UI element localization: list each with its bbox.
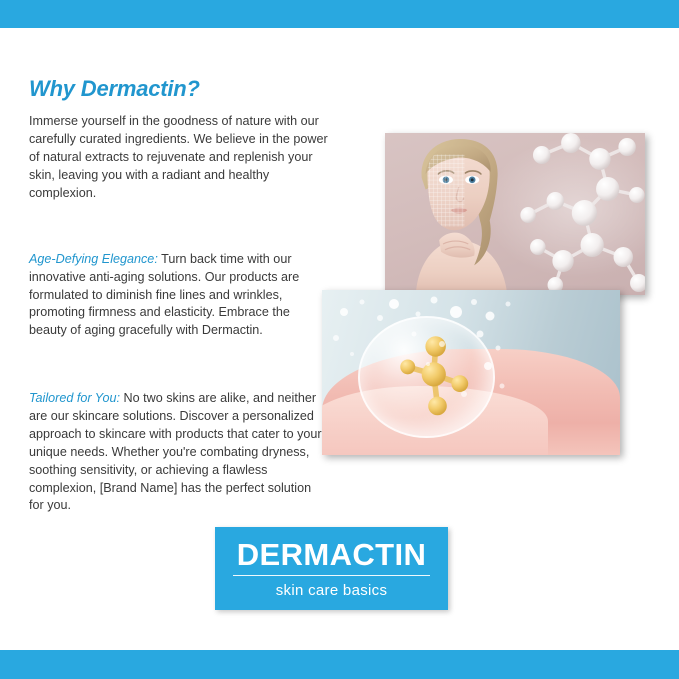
age-defying-lead-in: Age-Defying Elegance: <box>29 252 158 266</box>
water-bubbles-illustration <box>322 290 620 455</box>
model-face-molecules-photo <box>385 133 645 295</box>
top-brand-bar <box>0 0 679 28</box>
bottom-brand-bar <box>0 650 679 679</box>
brand-logo: DERMACTIN skin care basics <box>215 527 448 610</box>
tailored-body: No two skins are alike, and neither are … <box>29 391 322 512</box>
tailored-lead-in: Tailored for You: <box>29 391 120 405</box>
age-defying-paragraph: Age-Defying Elegance: Turn back time wit… <box>29 251 329 340</box>
product-description-page: Why Dermactin? Immerse yourself in the g… <box>0 0 679 679</box>
copy-column: Why Dermactin? Immerse yourself in the g… <box>29 76 329 515</box>
brand-wordmark: DERMACTIN <box>233 539 431 576</box>
serum-sphere-photo <box>322 290 620 455</box>
intro-paragraph: Immerse yourself in the goodness of natu… <box>29 113 329 202</box>
page-title: Why Dermactin? <box>29 76 329 102</box>
brand-tagline: skin care basics <box>276 583 388 598</box>
tailored-paragraph: Tailored for You: No two skins are alike… <box>29 390 329 515</box>
molecule-model-illustration <box>499 133 645 295</box>
